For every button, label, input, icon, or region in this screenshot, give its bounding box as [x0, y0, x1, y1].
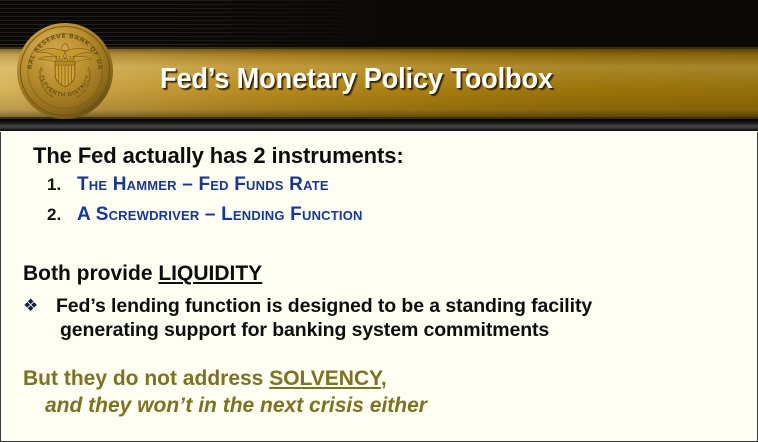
list-number: 1. [47, 175, 77, 195]
federal-reserve-seal-icon: FEDERAL RESERVE BANK OF DALLAS ELEVENTH … [16, 21, 114, 121]
list-item: 1.The Hammer – Fed Funds Rate [47, 174, 363, 204]
diamond-bullet-icon: ❖ [23, 297, 38, 314]
liquidity-prefix: Both provide [23, 262, 158, 285]
closing-line-1: But they do not address SOLVENCY, [23, 367, 723, 391]
svg-text:11 ★ 11: 11 ★ 11 [55, 56, 75, 62]
liquidity-statement: Both provide LIQUIDITY [23, 262, 262, 286]
closing-statement: But they do not address SOLVENCY, and th… [23, 367, 723, 418]
closing-suffix: , [381, 367, 387, 390]
slide-body: The Fed actually has 2 instruments: 1.Th… [0, 132, 758, 442]
lead-statement: The Fed actually has 2 instruments: [33, 143, 404, 169]
page-title: Fed’s Monetary Policy Toolbox [160, 63, 705, 96]
instrument-label-screwdriver: A Screwdriver – Lending Function [77, 204, 363, 225]
liquidity-emphasis: LIQUIDITY [158, 262, 262, 285]
list-number: 2. [47, 205, 77, 225]
instrument-label-hammer: The Hammer – Fed Funds Rate [77, 174, 329, 195]
bullet-line-2: generating support for banking system co… [60, 318, 723, 342]
presentation-slide: Fed’s Monetary Policy Toolbox FEDERAL RE… [0, 0, 758, 442]
closing-emphasis: SOLVENCY [269, 367, 381, 390]
closing-prefix: But they do not address [23, 367, 269, 390]
list-item: 2.A Screwdriver – Lending Function [47, 204, 363, 234]
closing-line-2: and they won’t in the next crisis either [45, 394, 723, 418]
bullet-text: Fed’s lending function is designed to be… [56, 294, 723, 342]
bullet-line-1: Fed’s lending function is designed to be… [56, 295, 592, 317]
lending-facility-bullet: ❖ Fed’s lending function is designed to … [23, 294, 723, 342]
instruments-list: 1.The Hammer – Fed Funds Rate 2.A Screwd… [47, 174, 363, 234]
